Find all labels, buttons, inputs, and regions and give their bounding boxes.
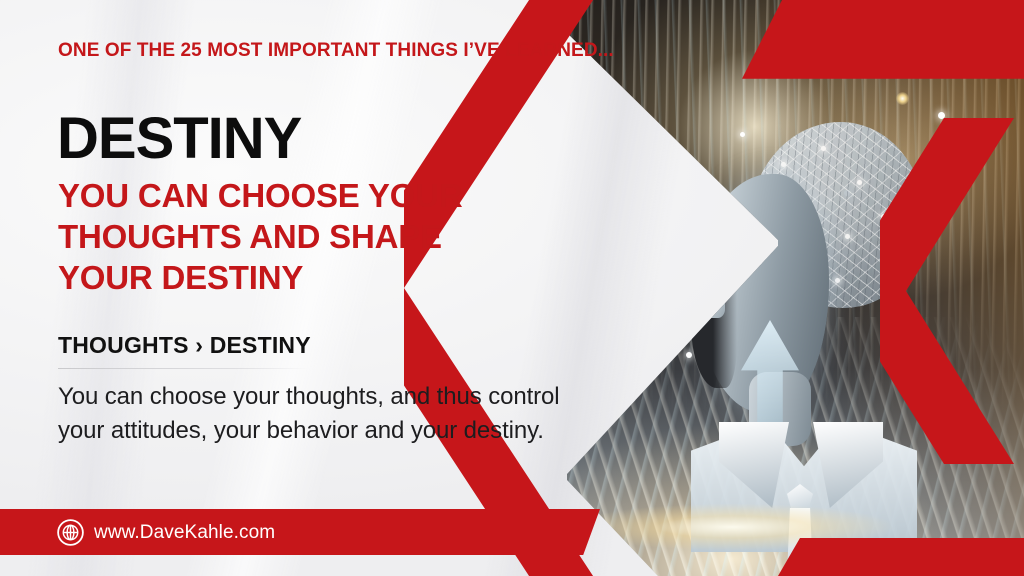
lens-flare-core-2: [896, 92, 909, 105]
section-kicker: THOUGHTS › DESTINY: [58, 332, 311, 359]
website-url[interactable]: www.DaveKahle.com: [94, 522, 275, 544]
page-title: DESTINY: [57, 111, 301, 167]
body-copy: You can choose your thoughts, and thus c…: [58, 380, 568, 448]
red-band-bottom: [778, 538, 1024, 576]
footer-bar: [0, 509, 600, 555]
subtitle-text: YOU CAN CHOOSE YOUR THOUGHTS AND SHAPE Y…: [58, 175, 518, 298]
globe-icon: [57, 519, 84, 546]
slide-canvas: ONE OF THE 25 MOST IMPORTANT THINGS I’VE…: [0, 0, 1024, 576]
divider: [58, 368, 308, 369]
eyebrow-text: ONE OF THE 25 MOST IMPORTANT THINGS I’VE…: [58, 40, 614, 62]
